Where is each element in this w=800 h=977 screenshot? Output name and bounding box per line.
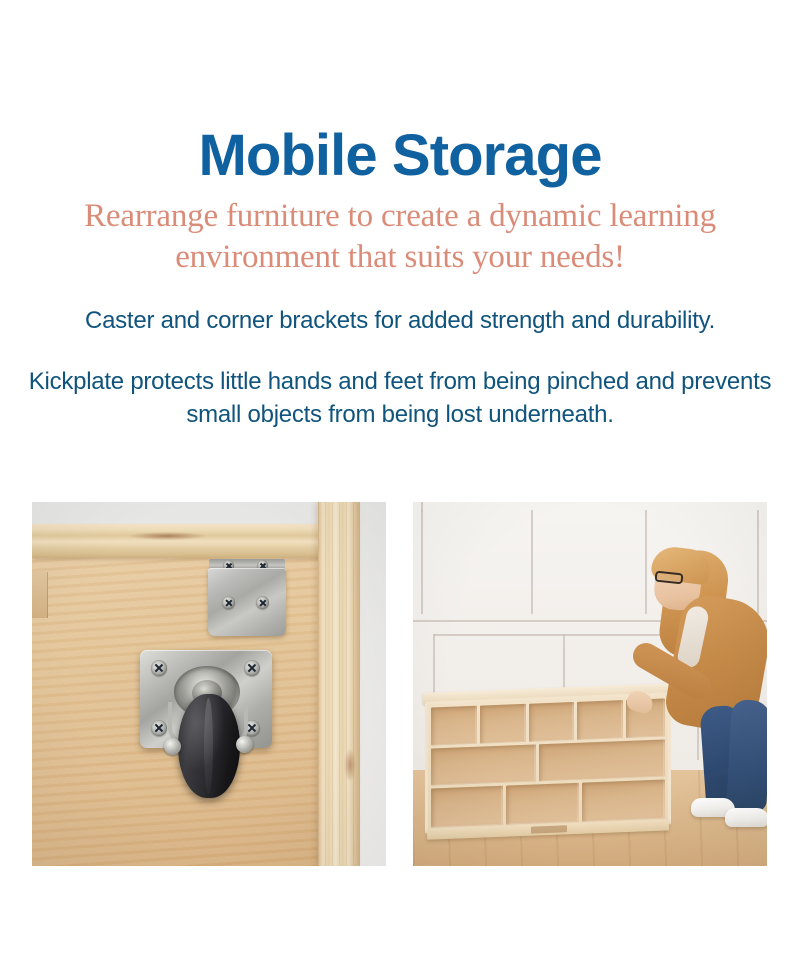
brand-label <box>531 825 567 833</box>
wall-panel-line <box>421 502 423 512</box>
shelf-cubby <box>480 704 526 743</box>
leg-front-jeans <box>726 699 767 813</box>
hand <box>624 688 655 716</box>
phillips-screw-icon <box>151 720 167 736</box>
page-title: Mobile Storage <box>0 126 800 186</box>
sneaker <box>725 808 767 827</box>
feature-description-kickplate: Kickplate protects little hands and feet… <box>0 365 800 431</box>
shelf-cubby <box>431 786 503 828</box>
phillips-screw-icon <box>244 660 260 676</box>
phillips-screw-icon <box>222 596 235 609</box>
promo-page: Mobile Storage Rearrange furniture to cr… <box>0 0 800 977</box>
caster-rubber-wheel <box>178 694 240 798</box>
wood-top-rail <box>32 524 346 558</box>
caster-axle-bolt <box>164 738 181 755</box>
shelf-cubby <box>577 700 623 739</box>
phillips-screw-icon <box>256 596 269 609</box>
photo-row <box>32 502 768 866</box>
phillips-screw-icon <box>151 660 167 676</box>
shelf-cubby-wide <box>431 744 536 786</box>
shelf-cubby <box>529 702 575 741</box>
wall-panel-line <box>531 510 533 614</box>
wood-edge-post <box>318 502 360 866</box>
wood-knot <box>128 532 206 540</box>
shelf-cubby <box>431 706 477 745</box>
corner-bracket-face <box>208 568 286 636</box>
text-content-block: Mobile Storage Rearrange furniture to cr… <box>0 0 800 431</box>
feature-description-casters: Caster and corner brackets for added str… <box>0 304 800 337</box>
woman-figure <box>625 540 767 840</box>
caster-and-corner-bracket-photo <box>32 502 386 866</box>
subtitle: Rearrange furniture to create a dynamic … <box>0 196 800 278</box>
caster-axle-bolt <box>236 736 253 753</box>
wood-side-tab <box>32 572 48 618</box>
wood-knot-secondary <box>344 748 356 782</box>
wood-grain-texture <box>318 502 360 866</box>
shelf-cubby <box>506 783 578 825</box>
wall-panel-line <box>421 510 423 614</box>
woman-pushing-mobile-storage-photo <box>413 502 767 866</box>
